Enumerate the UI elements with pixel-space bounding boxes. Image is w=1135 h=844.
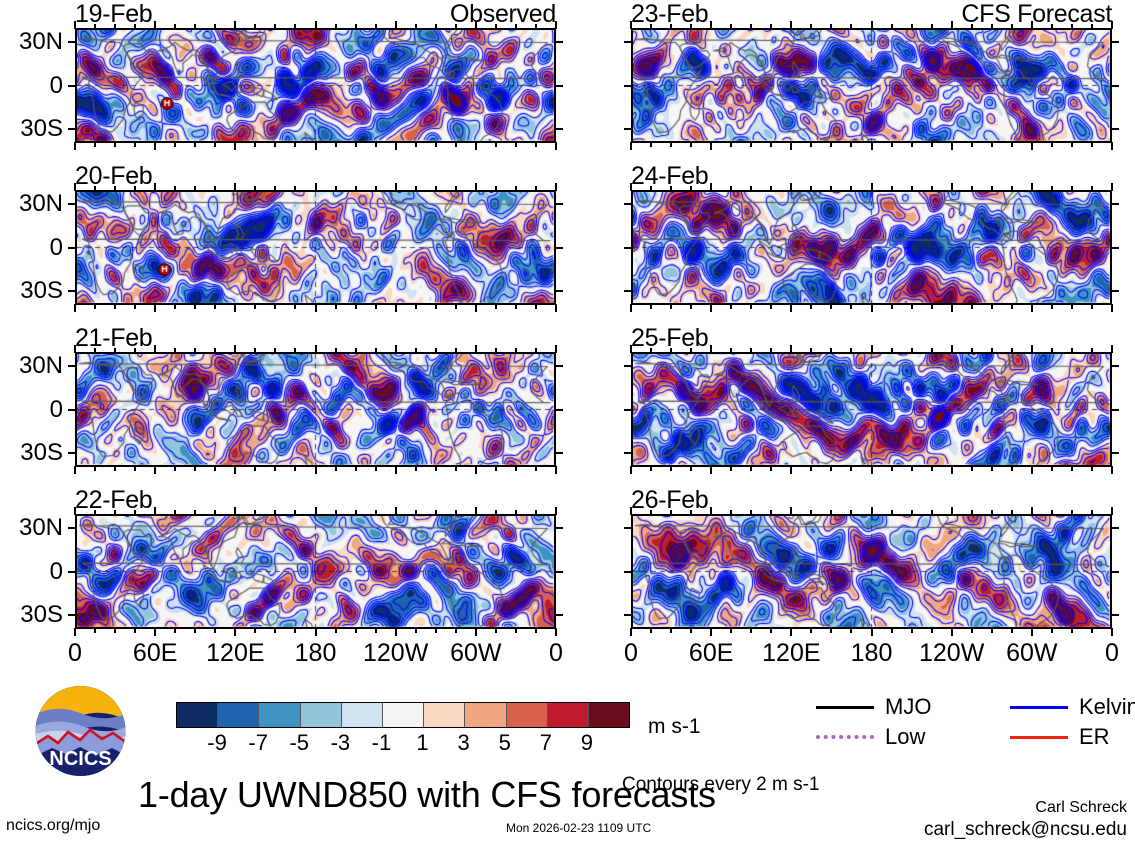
x-tick: [375, 466, 377, 471]
x-tick: [315, 345, 317, 353]
colorbar-swatch: [506, 703, 547, 727]
y-axis-label: 30N: [0, 354, 63, 378]
x-tick: [670, 466, 672, 471]
x-axis-label: 60E: [689, 641, 733, 666]
y-tick: [1111, 409, 1119, 411]
x-tick: [951, 507, 953, 515]
x-axis-labels-left: 060E120E180120W60W0: [75, 641, 556, 671]
y-tick: [555, 41, 563, 43]
x-tick: [335, 304, 337, 309]
x-tick: [415, 186, 417, 191]
x-tick: [790, 507, 792, 515]
y-axis-label: 0: [0, 74, 63, 98]
x-tick: [931, 142, 933, 147]
x-tick: [931, 348, 933, 353]
x-tick: [335, 142, 337, 147]
x-axis-label: 180: [851, 641, 893, 666]
x-tick: [1071, 24, 1073, 29]
x-tick: [830, 142, 832, 147]
x-tick: [475, 345, 477, 353]
x-tick: [871, 304, 873, 312]
x-tick: [114, 510, 116, 515]
colorbar-swatch: [341, 703, 382, 727]
x-tick: [730, 348, 732, 353]
page-title: 1-day UWND850 with CFS forecasts: [138, 777, 716, 813]
x-tick: [375, 186, 377, 191]
x-tick: [991, 348, 993, 353]
colorbar-swatch: [217, 703, 258, 727]
x-tick: [1011, 510, 1013, 515]
y-tick: [1111, 85, 1119, 87]
x-tick: [555, 21, 557, 29]
x-tick: [931, 24, 933, 29]
x-tick: [911, 304, 913, 309]
x-tick: [495, 304, 497, 309]
x-tick: [1011, 348, 1013, 353]
y-tick: [555, 85, 563, 87]
y-tick: [1111, 365, 1119, 367]
x-tick: [630, 304, 632, 312]
x-tick: [535, 186, 537, 191]
x-tick: [670, 628, 672, 633]
x-tick: [670, 142, 672, 147]
x-tick: [515, 186, 517, 191]
x-tick: [134, 142, 136, 147]
x-tick: [335, 628, 337, 633]
x-tick: [254, 304, 256, 309]
x-tick: [194, 142, 196, 147]
y-tick: [68, 128, 76, 130]
x-tick: [535, 304, 537, 309]
legend-line-swatch: [816, 735, 874, 739]
site-url[interactable]: ncics.org/mjo: [6, 818, 100, 834]
x-tick: [94, 510, 96, 515]
x-tick: [971, 304, 973, 309]
x-tick: [114, 304, 116, 309]
x-tick: [630, 507, 632, 515]
x-axis-label: 60E: [133, 641, 177, 666]
x-tick: [1111, 466, 1113, 474]
x-tick: [415, 466, 417, 471]
legend-item-low: Low: [816, 726, 925, 748]
x-tick: [234, 183, 236, 191]
x-tick: [630, 183, 632, 191]
x-tick: [810, 304, 812, 309]
x-tick: [134, 24, 136, 29]
x-tick: [690, 628, 692, 633]
x-tick: [1091, 142, 1093, 147]
y-tick: [555, 614, 563, 616]
x-tick: [194, 466, 196, 471]
x-tick: [911, 466, 913, 471]
x-tick: [911, 628, 913, 633]
x-tick: [174, 510, 176, 515]
x-tick: [830, 24, 832, 29]
x-tick: [1051, 628, 1053, 633]
x-tick: [234, 628, 236, 636]
x-tick: [650, 304, 652, 309]
x-tick: [971, 466, 973, 471]
x-tick: [214, 24, 216, 29]
x-tick: [830, 466, 832, 471]
x-tick: [435, 628, 437, 633]
x-tick: [435, 186, 437, 191]
x-tick: [495, 24, 497, 29]
x-tick: [315, 21, 317, 29]
x-tick: [1111, 142, 1113, 150]
x-tick: [931, 510, 933, 515]
x-tick: [475, 466, 477, 474]
x-tick: [194, 348, 196, 353]
colorbar-swatch: [258, 703, 299, 727]
x-tick: [1071, 466, 1073, 471]
x-axis-label: 120E: [762, 641, 820, 666]
x-tick: [830, 510, 832, 515]
x-tick: [515, 466, 517, 471]
x-tick: [415, 628, 417, 633]
x-tick: [1091, 466, 1093, 471]
x-tick: [790, 21, 792, 29]
x-tick: [555, 628, 557, 636]
x-tick: [515, 510, 517, 515]
x-tick: [1071, 348, 1073, 353]
x-tick: [871, 507, 873, 515]
x-tick: [690, 304, 692, 309]
x-tick: [134, 186, 136, 191]
x-tick: [1071, 186, 1073, 191]
colorbar-units-label: m s-1: [648, 716, 701, 737]
legend-line-swatch: [1010, 706, 1068, 709]
x-tick: [1071, 304, 1073, 309]
x-tick: [274, 186, 276, 191]
x-tick: [730, 304, 732, 309]
x-tick: [1031, 345, 1033, 353]
x-tick: [670, 510, 672, 515]
x-tick: [1091, 304, 1093, 309]
x-tick: [74, 466, 76, 474]
x-tick: [294, 510, 296, 515]
x-tick: [1091, 510, 1093, 515]
colorbar-swatch: [547, 703, 588, 727]
x-tick: [630, 21, 632, 29]
x-tick: [154, 21, 156, 29]
x-axis-label: 60W: [1006, 641, 1057, 666]
x-tick: [254, 24, 256, 29]
x-tick: [234, 466, 236, 474]
x-tick: [375, 628, 377, 633]
x-tick: [1091, 186, 1093, 191]
colorbar-tick-label: 1: [416, 732, 428, 754]
x-tick: [690, 186, 692, 191]
x-tick: [830, 186, 832, 191]
x-tick: [670, 186, 672, 191]
x-tick: [991, 24, 993, 29]
x-tick: [770, 628, 772, 633]
x-tick: [94, 628, 96, 633]
legend-item-er: ER: [1010, 726, 1110, 748]
legend-label: Low: [885, 726, 925, 748]
y-tick: [624, 614, 632, 616]
x-tick: [911, 24, 913, 29]
x-tick: [495, 348, 497, 353]
map-area: [631, 352, 1112, 467]
x-tick: [455, 186, 457, 191]
x-tick: [971, 142, 973, 147]
y-tick: [555, 203, 563, 205]
x-tick: [174, 348, 176, 353]
x-tick: [94, 24, 96, 29]
x-tick: [335, 186, 337, 191]
x-tick: [174, 628, 176, 633]
x-tick: [650, 24, 652, 29]
x-tick: [214, 348, 216, 353]
x-tick: [515, 304, 517, 309]
x-tick: [74, 628, 76, 636]
x-tick: [74, 507, 76, 515]
y-tick: [555, 365, 563, 367]
x-tick: [274, 304, 276, 309]
y-tick: [68, 571, 76, 573]
x-tick: [1111, 21, 1113, 29]
x-tick: [1051, 186, 1053, 191]
x-tick: [555, 183, 557, 191]
x-tick: [154, 183, 156, 191]
y-tick: [68, 365, 76, 367]
x-tick: [770, 304, 772, 309]
x-tick: [871, 466, 873, 474]
y-axis-label: 30N: [0, 30, 63, 54]
x-tick: [274, 628, 276, 633]
x-tick: [315, 183, 317, 191]
x-tick: [690, 466, 692, 471]
x-tick: [274, 348, 276, 353]
x-tick: [971, 24, 973, 29]
timestamp: Mon 2026-02-23 1109 UTC: [506, 822, 651, 834]
x-tick: [435, 466, 437, 471]
y-tick: [555, 128, 563, 130]
x-tick: [630, 628, 632, 636]
x-tick: [1051, 348, 1053, 353]
x-tick: [294, 142, 296, 147]
x-tick: [650, 628, 652, 633]
map-area: [75, 514, 556, 629]
x-tick: [74, 183, 76, 191]
x-axis-label: 120W: [919, 641, 984, 666]
x-tick: [891, 186, 893, 191]
x-tick: [94, 142, 96, 147]
x-tick: [355, 304, 357, 309]
x-tick: [94, 348, 96, 353]
y-tick: [624, 527, 632, 529]
x-tick: [830, 348, 832, 353]
x-tick: [750, 186, 752, 191]
x-tick: [274, 510, 276, 515]
x-tick: [375, 510, 377, 515]
x-axis-label: 60W: [450, 641, 501, 666]
x-tick: [455, 24, 457, 29]
x-tick: [355, 24, 357, 29]
x-tick: [971, 628, 973, 633]
x-tick: [214, 510, 216, 515]
x-tick: [1051, 142, 1053, 147]
x-tick: [294, 466, 296, 471]
x-tick: [750, 24, 752, 29]
y-tick: [1111, 128, 1119, 130]
y-tick: [1111, 41, 1119, 43]
x-tick: [1071, 142, 1073, 147]
x-tick: [315, 466, 317, 474]
y-axis-label: 0: [0, 398, 63, 422]
x-tick: [810, 24, 812, 29]
y-axis-label: 30S: [0, 441, 63, 465]
x-tick: [810, 466, 812, 471]
x-tick: [214, 628, 216, 633]
x-tick: [355, 142, 357, 147]
x-tick: [630, 345, 632, 353]
x-tick: [1011, 628, 1013, 633]
x-tick: [315, 507, 317, 515]
map-area: [75, 190, 556, 305]
x-tick: [951, 183, 953, 191]
x-tick: [555, 304, 557, 312]
x-tick: [770, 186, 772, 191]
y-tick: [624, 409, 632, 411]
x-tick: [991, 304, 993, 309]
x-tick: [710, 507, 712, 515]
y-tick: [68, 247, 76, 249]
x-tick: [810, 142, 812, 147]
x-tick: [790, 183, 792, 191]
x-tick: [254, 186, 256, 191]
map-area: [631, 514, 1112, 629]
x-tick: [154, 507, 156, 515]
x-tick: [850, 466, 852, 471]
x-tick: [495, 142, 497, 147]
x-tick: [395, 507, 397, 515]
x-tick: [375, 24, 377, 29]
x-tick: [750, 510, 752, 515]
colorbar-tick-label: -1: [372, 732, 392, 754]
x-tick: [495, 510, 497, 515]
x-tick: [1031, 628, 1033, 636]
colorbar-swatch: [382, 703, 423, 727]
y-tick: [68, 203, 76, 205]
x-tick: [254, 142, 256, 147]
y-tick: [624, 128, 632, 130]
x-tick: [1111, 183, 1113, 191]
x-tick: [991, 510, 993, 515]
x-tick: [214, 304, 216, 309]
x-tick: [850, 510, 852, 515]
x-tick: [495, 628, 497, 633]
y-tick: [624, 571, 632, 573]
x-tick: [415, 24, 417, 29]
y-tick: [1111, 614, 1119, 616]
x-tick: [495, 466, 497, 471]
x-tick: [810, 348, 812, 353]
x-tick: [455, 628, 457, 633]
x-tick: [114, 24, 116, 29]
x-tick: [395, 628, 397, 636]
x-tick: [355, 348, 357, 353]
x-tick: [1011, 304, 1013, 309]
x-tick: [1051, 510, 1053, 515]
colorbar-tick-label: 5: [499, 732, 511, 754]
x-tick: [931, 466, 933, 471]
x-tick: [1031, 183, 1033, 191]
x-tick: [114, 186, 116, 191]
x-tick: [535, 510, 537, 515]
x-tick: [495, 186, 497, 191]
x-tick: [74, 304, 76, 312]
y-tick: [1111, 527, 1119, 529]
x-tick: [1011, 186, 1013, 191]
x-tick: [911, 510, 913, 515]
x-tick: [455, 466, 457, 471]
x-tick: [991, 466, 993, 471]
x-tick: [194, 186, 196, 191]
map-area: [75, 28, 556, 143]
x-tick: [294, 186, 296, 191]
x-tick: [254, 348, 256, 353]
x-axis-label: 120E: [206, 641, 264, 666]
x-tick: [850, 142, 852, 147]
colorbar-tick-label: 9: [581, 732, 593, 754]
x-tick: [790, 142, 792, 150]
x-tick: [1111, 628, 1113, 636]
y-tick: [624, 365, 632, 367]
x-tick: [951, 345, 953, 353]
x-tick: [355, 628, 357, 633]
colorbar-tick-label: -3: [331, 732, 351, 754]
colorbar-swatch: [423, 703, 464, 727]
x-tick: [871, 628, 873, 636]
x-tick: [194, 628, 196, 633]
x-tick: [315, 304, 317, 312]
x-tick: [1031, 466, 1033, 474]
x-tick: [475, 183, 477, 191]
x-tick: [871, 142, 873, 150]
x-tick: [931, 304, 933, 309]
x-tick: [555, 345, 557, 353]
x-tick: [790, 345, 792, 353]
x-tick: [710, 21, 712, 29]
x-tick: [891, 24, 893, 29]
x-tick: [234, 304, 236, 312]
author-email[interactable]: carl_schreck@ncsu.edu: [924, 820, 1127, 839]
x-tick: [690, 142, 692, 147]
x-tick: [435, 304, 437, 309]
x-tick: [951, 21, 953, 29]
x-tick: [650, 186, 652, 191]
x-tick: [435, 142, 437, 147]
x-tick: [911, 186, 913, 191]
author-name: Carl Schreck: [1035, 800, 1127, 816]
x-tick: [214, 466, 216, 471]
x-tick: [154, 345, 156, 353]
x-tick: [515, 628, 517, 633]
x-tick: [710, 466, 712, 474]
y-tick: [68, 452, 76, 454]
x-tick: [274, 142, 276, 147]
x-tick: [730, 24, 732, 29]
x-tick: [770, 466, 772, 471]
x-tick: [871, 345, 873, 353]
x-tick: [535, 24, 537, 29]
x-tick: [315, 628, 317, 636]
x-tick: [630, 142, 632, 150]
x-tick: [1091, 628, 1093, 633]
